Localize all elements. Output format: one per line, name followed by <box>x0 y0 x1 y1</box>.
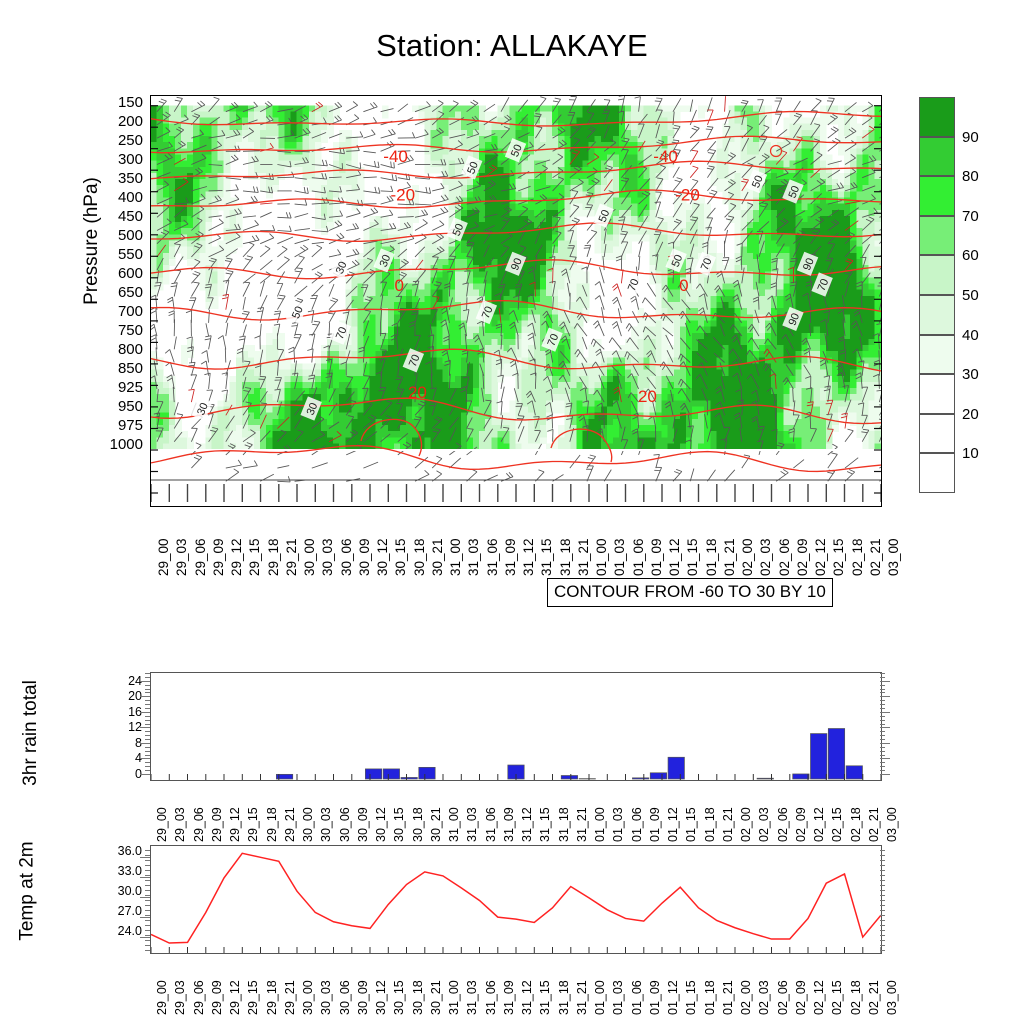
main-y-tick: 750 <box>118 323 143 338</box>
rain-minor-tick <box>140 774 150 775</box>
rain-right-tick <box>880 731 885 732</box>
rain-panel <box>150 672 882 781</box>
rain-minor-tick <box>140 743 150 744</box>
temp-right-tick <box>880 890 885 891</box>
temp-x-tick-labels: 29_0029_0329_0629_0929_1229_1529_1829_21… <box>150 957 880 1029</box>
temp-right-tick <box>880 945 885 946</box>
rain-right-tick <box>880 735 885 736</box>
main-y-tick: 650 <box>118 285 143 300</box>
colorbar-tick: 90 <box>962 130 979 145</box>
x-tick-label: 01_03 <box>612 538 627 576</box>
x-tick-label: 03_00 <box>885 980 899 1015</box>
rain-right-tick <box>880 681 890 682</box>
x-tick-label: 02_12 <box>812 807 826 842</box>
x-tick-label: 01_18 <box>704 538 719 576</box>
x-tick-label: 31_18 <box>557 807 571 842</box>
x-tick-label: 30_09 <box>356 980 370 1015</box>
x-tick-label: 02_21 <box>868 538 883 576</box>
x-tick-label: 31_18 <box>558 538 573 576</box>
x-tick-label: 02_18 <box>849 807 863 842</box>
x-tick-label: 30_03 <box>319 980 333 1015</box>
temp-right-tick <box>880 920 885 921</box>
x-tick-label: 31_06 <box>484 980 498 1015</box>
x-tick-label: 31_03 <box>465 807 479 842</box>
x-tick-label: 31_18 <box>557 980 571 1015</box>
x-tick-label: 01_00 <box>594 538 609 576</box>
main-y-tick: 450 <box>118 209 143 224</box>
x-tick-label: 02_09 <box>794 980 808 1015</box>
x-tick-label: 31_15 <box>539 538 554 576</box>
x-tick-label: 02_03 <box>757 980 771 1015</box>
temp-right-tick <box>880 935 885 936</box>
main-y-tick: 975 <box>118 418 143 433</box>
x-tick-label: 30_06 <box>338 980 352 1015</box>
x-tick-label: 29_09 <box>211 538 226 576</box>
x-tick-label: 29_03 <box>174 538 189 576</box>
temp-right-tick <box>880 915 885 916</box>
x-tick-label: 02_00 <box>739 980 753 1015</box>
temp-y-tick: 36.0 <box>118 845 142 858</box>
temp-right-tick <box>880 950 885 951</box>
x-tick-label: 02_03 <box>758 538 773 576</box>
x-tick-label: 02_12 <box>812 980 826 1015</box>
colorbar-tick: 50 <box>962 288 979 303</box>
x-tick-label: 30_03 <box>320 538 335 576</box>
colorbar-band <box>919 295 955 335</box>
temp-y-tick: 33.0 <box>118 865 142 878</box>
main-y-tick: 300 <box>118 152 143 167</box>
x-tick-label: 30_15 <box>392 807 406 842</box>
temp-right-tick <box>880 905 885 906</box>
main-y-tick: 925 <box>118 380 143 395</box>
x-tick-label: 29_03 <box>173 980 187 1015</box>
x-tick-label: 01_18 <box>703 807 717 842</box>
x-tick-label: 29_09 <box>210 807 224 842</box>
x-tick-label: 02_15 <box>830 980 844 1015</box>
x-tick-label: 29_06 <box>193 538 208 576</box>
x-tick-label: 29_09 <box>210 980 224 1015</box>
x-tick-label: 31_15 <box>538 807 552 842</box>
x-tick-label: 30_12 <box>374 980 388 1015</box>
x-tick-label: 31_00 <box>448 538 463 576</box>
rain-right-tick <box>880 762 885 763</box>
rain-y-tick-labels: 24201612840 <box>104 665 142 787</box>
temp-y-axis-title: Temp at 2m <box>17 841 39 940</box>
rain-right-tick <box>880 677 885 678</box>
rain-right-tick <box>880 755 885 756</box>
x-tick-label: 29_21 <box>283 980 297 1015</box>
x-tick-label: 30_15 <box>393 538 408 576</box>
x-tick-label: 31_00 <box>447 807 461 842</box>
rain-right-tick <box>880 743 890 744</box>
temp-right-tick <box>880 860 885 861</box>
x-tick-label: 30_00 <box>301 807 315 842</box>
colorbar-labels: 908070605040302010 <box>962 97 1022 497</box>
rain-right-tick <box>880 770 885 771</box>
rain-y-axis-title: 3hr rain total <box>20 680 42 786</box>
temp-tick-mark <box>140 937 150 938</box>
x-tick-label: 01_06 <box>630 807 644 842</box>
x-tick-label: 29_06 <box>192 980 206 1015</box>
x-tick-label: 29_00 <box>155 807 169 842</box>
x-tick-label: 31_06 <box>485 538 500 576</box>
colorbar-tick: 60 <box>962 248 979 263</box>
rain-minor-tick <box>140 696 150 697</box>
colorbar-band <box>919 97 955 137</box>
x-tick-label: 01_12 <box>666 807 680 842</box>
x-tick-label: 01_21 <box>721 807 735 842</box>
colorbar-tick: 80 <box>962 169 979 184</box>
temp-right-tick <box>880 930 885 931</box>
x-tick-label: 29_03 <box>173 807 187 842</box>
main-y-tick: 400 <box>118 190 143 205</box>
x-tick-label: 02_09 <box>794 807 808 842</box>
x-tick-label: 02_15 <box>830 807 844 842</box>
colorbar-tick: 40 <box>962 328 979 343</box>
temp-y-tick: 30.0 <box>118 885 142 898</box>
main-x-tick-labels: 29_0029_0329_0629_0929_1229_1529_1829_21… <box>150 512 880 584</box>
rain-right-tick <box>880 724 885 725</box>
x-tick-label: 29_06 <box>192 807 206 842</box>
x-tick-label: 30_18 <box>411 807 425 842</box>
colorbar-tick: 10 <box>962 446 979 461</box>
x-tick-label: 01_09 <box>648 980 662 1015</box>
main-y-tick: 600 <box>118 266 143 281</box>
x-tick-label: 03_00 <box>886 538 901 576</box>
x-tick-label: 29_21 <box>284 538 299 576</box>
x-tick-label: 02_06 <box>776 980 790 1015</box>
main-y-tick: 850 <box>118 361 143 376</box>
x-tick-label: 01_15 <box>684 807 698 842</box>
x-tick-label: 29_15 <box>246 980 260 1015</box>
x-tick-label: 31_09 <box>502 980 516 1015</box>
colorbar-band <box>919 335 955 375</box>
rain-right-tick <box>880 692 885 693</box>
x-tick-label: 31_21 <box>575 980 589 1015</box>
main-y-tick: 950 <box>118 399 143 414</box>
x-tick-label: 29_18 <box>266 538 281 576</box>
colorbar-band <box>919 414 955 454</box>
temp-y-tick-labels: 36.033.030.027.024.0 <box>96 838 142 960</box>
plot-root: Station: ALLAKAYE Pressure (hPa) 1502002… <box>0 0 1024 1024</box>
x-tick-label: 01_09 <box>648 807 662 842</box>
rain-right-tick <box>880 685 885 686</box>
colorbar-tick: 30 <box>962 367 979 382</box>
rain-right-tick <box>880 708 885 709</box>
rain-right-tick <box>880 727 890 728</box>
main-y-tick: 150 <box>118 95 143 110</box>
rain-right-tick <box>880 704 885 705</box>
main-y-tick: 250 <box>118 133 143 148</box>
x-tick-label: 01_03 <box>611 980 625 1015</box>
x-tick-label: 31_09 <box>502 807 516 842</box>
x-tick-label: 02_18 <box>849 980 863 1015</box>
x-tick-label: 01_15 <box>685 538 700 576</box>
x-tick-label: 30_00 <box>302 538 317 576</box>
x-tick-label: 31_00 <box>447 980 461 1015</box>
x-tick-label: 30_09 <box>356 807 370 842</box>
x-tick-label: 30_12 <box>374 807 388 842</box>
colorbar-band <box>919 176 955 216</box>
temp-right-tick <box>880 910 885 911</box>
colorbar-band <box>919 255 955 295</box>
temp-right-tick <box>880 850 885 851</box>
colorbar-band <box>919 453 955 493</box>
x-tick-label: 29_12 <box>228 807 242 842</box>
temp-right-tick <box>880 855 885 856</box>
rain-right-tick <box>880 751 885 752</box>
x-tick-label: 02_12 <box>813 538 828 576</box>
x-tick-label: 01_06 <box>631 538 646 576</box>
temp-y-tick: 24.0 <box>118 925 142 938</box>
x-tick-label: 02_03 <box>757 807 771 842</box>
rain-right-tick <box>880 720 885 721</box>
main-y-tick: 350 <box>118 171 143 186</box>
x-tick-label: 31_21 <box>576 538 591 576</box>
x-tick-label: 02_18 <box>850 538 865 576</box>
x-tick-label: 02_00 <box>740 538 755 576</box>
temp-right-tick <box>880 880 885 881</box>
temp-tick-mark <box>140 877 150 878</box>
main-y-tick-labels: 1502002503003504004505005506006507007508… <box>95 88 143 508</box>
x-tick-label: 31_12 <box>521 538 536 576</box>
x-tick-label: 31_12 <box>520 980 534 1015</box>
x-tick-label: 02_21 <box>867 980 881 1015</box>
temp-tick-mark <box>140 917 150 918</box>
x-tick-label: 29_15 <box>247 538 262 576</box>
temp-tick-mark <box>140 897 150 898</box>
x-tick-label: 30_21 <box>429 807 443 842</box>
x-tick-label: 31_21 <box>575 807 589 842</box>
x-tick-label: 01_15 <box>684 980 698 1015</box>
colorbar-band <box>919 374 955 414</box>
temp-line <box>151 846 881 953</box>
page-title: Station: ALLAKAYE <box>0 28 1024 64</box>
main-y-tick: 1000 <box>110 437 143 452</box>
x-tick-label: 30_06 <box>339 538 354 576</box>
colorbar-tick: 20 <box>962 407 979 422</box>
rain-minor-tick <box>140 712 150 713</box>
temp-y-tick: 27.0 <box>118 905 142 918</box>
colorbar-band <box>919 216 955 256</box>
rain-right-tick <box>880 739 885 740</box>
x-tick-label: 31_03 <box>465 980 479 1015</box>
colorbar-band <box>919 137 955 177</box>
rain-right-tick <box>880 747 885 748</box>
temp-right-tick <box>880 885 885 886</box>
x-tick-label: 29_12 <box>229 538 244 576</box>
x-tick-label: 01_06 <box>630 980 644 1015</box>
temp-tick-mark <box>140 857 150 858</box>
main-y-tick: 200 <box>118 114 143 129</box>
temp-y-ticks <box>140 845 150 952</box>
colorbar-tick: 70 <box>962 209 979 224</box>
main-y-tick: 500 <box>118 228 143 243</box>
x-tick-label: 29_21 <box>283 807 297 842</box>
x-tick-label: 30_18 <box>412 538 427 576</box>
x-tick-label: 01_12 <box>666 980 680 1015</box>
temp-right-tick <box>880 865 885 866</box>
x-tick-label: 30_15 <box>392 980 406 1015</box>
temp-right-tick <box>880 900 885 901</box>
rain-right-tick <box>880 673 885 674</box>
x-tick-label: 01_12 <box>667 538 682 576</box>
temp-right-tick <box>880 870 885 871</box>
x-tick-label: 01_03 <box>611 807 625 842</box>
x-tick-label: 30_03 <box>319 807 333 842</box>
x-tick-label: 30_09 <box>357 538 372 576</box>
rain-minor-tick <box>140 727 150 728</box>
temp-right-tick <box>880 925 885 926</box>
temp-right-ticks <box>880 845 890 952</box>
x-tick-label: 01_09 <box>649 538 664 576</box>
rain-right-tick <box>880 716 885 717</box>
x-tick-label: 02_06 <box>777 538 792 576</box>
x-tick-label: 31_06 <box>484 807 498 842</box>
x-tick-label: 31_12 <box>520 807 534 842</box>
x-tick-label: 29_15 <box>246 807 260 842</box>
main-y-tick: 550 <box>118 247 143 262</box>
x-tick-label: 02_09 <box>795 538 810 576</box>
rain-right-tick <box>880 774 890 775</box>
x-tick-label: 02_21 <box>867 807 881 842</box>
x-tick-label: 29_00 <box>156 538 171 576</box>
x-tick-label: 31_09 <box>503 538 518 576</box>
rain-right-tick <box>880 766 885 767</box>
x-tick-label: 30_06 <box>338 807 352 842</box>
x-tick-label: 30_21 <box>429 980 443 1015</box>
temp-right-tick <box>880 875 885 876</box>
contour-info-box: CONTOUR FROM -60 TO 30 BY 10 <box>547 578 833 607</box>
x-tick-label: 01_00 <box>593 807 607 842</box>
rain-right-tick <box>880 696 890 697</box>
colorbar <box>919 97 955 493</box>
x-tick-label: 01_21 <box>722 538 737 576</box>
x-tick-label: 29_00 <box>155 980 169 1015</box>
rain-minor-tick <box>140 681 150 682</box>
rain-bars <box>151 673 881 780</box>
x-tick-label: 01_18 <box>703 980 717 1015</box>
rain-minor-tick <box>140 758 150 759</box>
rain-y-ticks <box>140 672 150 779</box>
rain-right-tick <box>880 758 890 759</box>
x-tick-label: 30_18 <box>411 980 425 1015</box>
x-tick-label: 30_21 <box>430 538 445 576</box>
rain-right-tick <box>880 712 890 713</box>
x-tick-label: 29_12 <box>228 980 242 1015</box>
x-tick-label: 29_18 <box>265 980 279 1015</box>
upper-air-cross-section-panel: -40-40-20-200020203030303050505050505050… <box>150 95 882 507</box>
x-tick-label: 01_21 <box>721 980 735 1015</box>
x-tick-label: 03_00 <box>885 807 899 842</box>
x-tick-label: 30_00 <box>301 980 315 1015</box>
rain-right-tick <box>880 689 885 690</box>
x-tick-label: 01_00 <box>593 980 607 1015</box>
rain-right-tick <box>880 700 885 701</box>
temp-right-tick <box>880 895 885 896</box>
x-tick-label: 31_03 <box>466 538 481 576</box>
x-tick-label: 02_15 <box>831 538 846 576</box>
x-tick-label: 02_06 <box>776 807 790 842</box>
temp-right-tick <box>880 940 885 941</box>
x-tick-label: 29_18 <box>265 807 279 842</box>
main-y-tick: 800 <box>118 342 143 357</box>
temp-panel <box>150 845 882 954</box>
x-tick-label: 02_00 <box>739 807 753 842</box>
rain-right-ticks <box>880 672 890 779</box>
main-y-tick: 700 <box>118 304 143 319</box>
x-tick-label: 31_15 <box>538 980 552 1015</box>
x-tick-label: 30_12 <box>375 538 390 576</box>
temperature-contours: -40-40-20-200020203030303050505050505050… <box>151 96 881 506</box>
